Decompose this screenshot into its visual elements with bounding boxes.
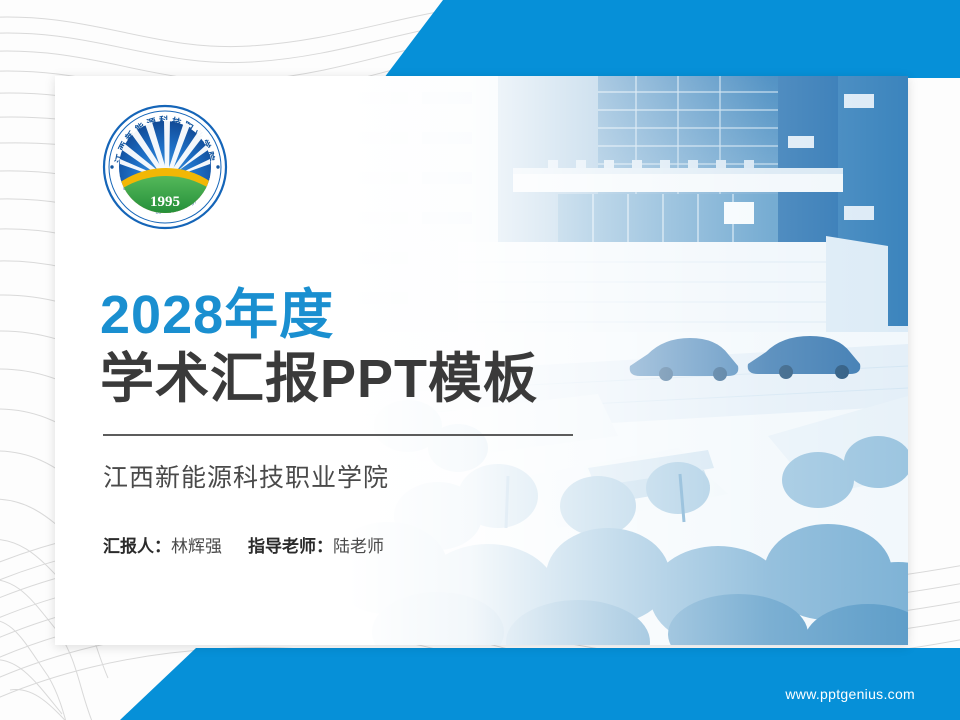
- reporter-label: 汇报人: [103, 537, 154, 556]
- advisor-name: 陆老师: [333, 537, 384, 556]
- presenter-info-row: 汇报人：林辉强指导老师：陆老师: [103, 532, 640, 557]
- school-logo: 江西新能源科技职业学院 Jiangxi New Energy Technolog…: [100, 102, 230, 232]
- reporter-name: 林辉强: [171, 537, 222, 556]
- content-card: 江西新能源科技职业学院 Jiangxi New Energy Technolog…: [55, 76, 908, 645]
- presentation-slide: 江西新能源科技职业学院 Jiangxi New Energy Technolog…: [0, 0, 960, 720]
- advisor-label: 指导老师: [248, 537, 316, 556]
- school-name: 江西新能源科技职业学院: [103, 458, 640, 494]
- logo-year-text: 1995: [150, 194, 180, 210]
- title-year: 2028年度: [100, 286, 640, 344]
- advisor-separator: ：: [316, 537, 333, 556]
- title-divider: [103, 434, 573, 436]
- footer-website-url[interactable]: www.pptgenius.com: [785, 686, 915, 702]
- title-text-block: 2028年度 学术汇报PPT模板 江西新能源科技职业学院 汇报人：林辉强指导老师…: [100, 286, 640, 557]
- reporter-separator: ：: [154, 537, 171, 556]
- title-main: 学术汇报PPT模板: [100, 348, 640, 412]
